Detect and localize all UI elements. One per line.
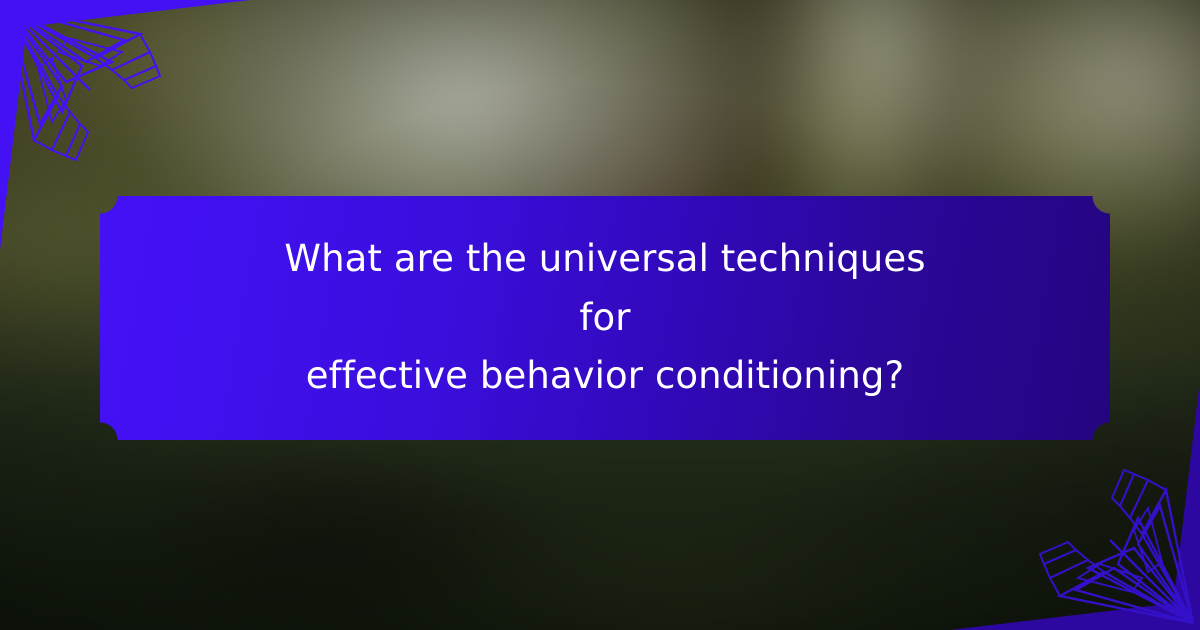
question-card: What are the universal techniques for ef… (100, 196, 1110, 440)
social-card-image: What are the universal techniques for ef… (0, 0, 1200, 630)
question-text: What are the universal techniques for ef… (255, 230, 955, 405)
